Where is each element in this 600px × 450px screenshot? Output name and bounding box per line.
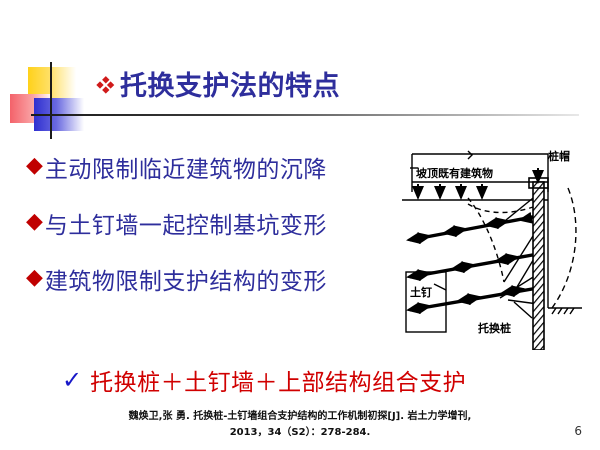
diagram-label-pile-cap: 桩帽: [548, 149, 570, 163]
red-diamond-cluster-icon: [95, 75, 115, 95]
underpinning-pile-diagram: 坡顶既有建筑物: [396, 132, 600, 350]
diagram-slip-surface: [468, 198, 536, 282]
diagram-label-building: 坡顶既有建筑物: [416, 166, 493, 180]
page-number: 6: [574, 424, 582, 438]
diagram-pile-leader: [514, 302, 532, 318]
list-item: ◆ 建筑物限制支护结构的变形: [26, 262, 406, 296]
title-underline-rule: [31, 114, 579, 116]
diamond-bullet-icon: ◆: [26, 267, 43, 289]
citation-line-2: 2013，34（S2）：278-284.: [0, 425, 600, 441]
diamond-bullet-icon: ◆: [26, 155, 43, 177]
bullet-label: 建筑物限制支护结构的变形: [45, 262, 327, 296]
conclusion-row: ✓ 托换桩＋土钉墙＋上部结构组合支护: [62, 363, 466, 397]
bullet-list: ◆ 主动限制临近建筑物的沉降 ◆ 与土钉墙一起控制基坑变形 ◆ 建筑物限制支护结…: [26, 150, 406, 318]
diagram-underpinning-pile: [533, 182, 544, 350]
bullet-label: 主动限制临近建筑物的沉降: [45, 150, 327, 184]
diagram-ground-hatch: [552, 308, 574, 314]
decor-vertical-rule: [50, 62, 52, 139]
diagram-load-arrows: [418, 184, 482, 198]
page-title: 托换支护法的特点: [95, 64, 340, 103]
bullet-label: 与土钉墙一起控制基坑变形: [45, 206, 327, 240]
citation-line-1: 魏焕卫,张 勇. 托换桩-土钉墙组合支护结构的工作机制初探[J]. 岩土力学增刊…: [0, 409, 600, 425]
diagram-label-soil-nail: 土钉: [410, 285, 432, 299]
slide-canvas: 托换支护法的特点 ◆ 主动限制临近建筑物的沉降 ◆ 与土钉墙一起控制基坑变形 ◆…: [0, 0, 600, 450]
conclusion-text: 托换桩＋土钉墙＋上部结构组合支护: [90, 363, 466, 397]
citation-footer: 魏焕卫,张 勇. 托换桩-土钉墙组合支护结构的工作机制初探[J]. 岩土力学增刊…: [0, 409, 600, 440]
list-item: ◆ 与土钉墙一起控制基坑变形: [26, 206, 406, 240]
page-title-text: 托换支护法的特点: [120, 64, 340, 103]
list-item: ◆ 主动限制临近建筑物的沉降: [26, 150, 406, 184]
diamond-bullet-icon: ◆: [26, 211, 43, 233]
diagram-deflection-curve: [548, 188, 582, 308]
checkmark-icon: ✓: [62, 368, 82, 392]
diagram-soil-nail-callout: [406, 272, 446, 332]
diagram-label-underpinning-pile: 托换桩: [478, 321, 511, 335]
